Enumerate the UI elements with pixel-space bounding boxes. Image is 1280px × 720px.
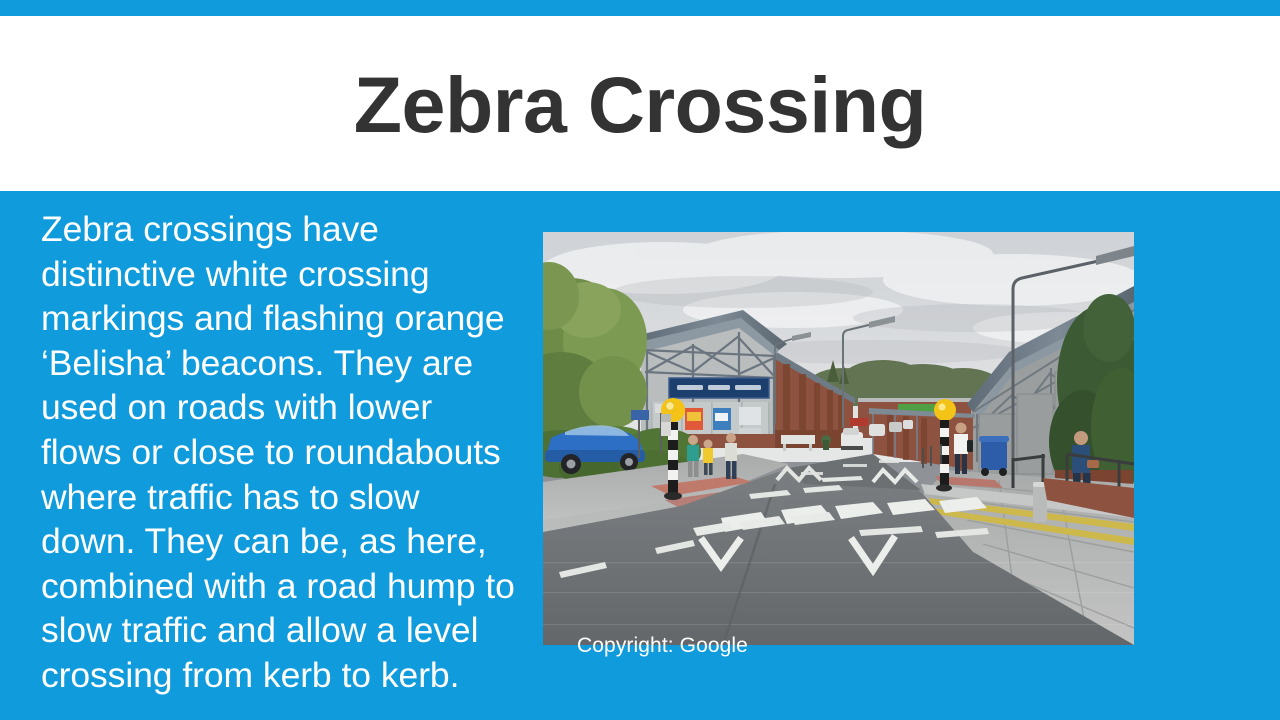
content-band: Zebra crossings have distinctive white c… [0, 191, 1280, 720]
image-caption: Copyright: Google [577, 634, 748, 658]
page-title: Zebra Crossing [354, 64, 926, 147]
street-photo-canvas [543, 232, 1134, 645]
slide: Zebra Crossing Zebra crossings have dist… [0, 0, 1280, 720]
street-photo [543, 232, 1134, 645]
street-scene-illustration [543, 232, 1134, 645]
body-paragraph: Zebra crossings have distinctive white c… [41, 207, 521, 698]
title-band: Zebra Crossing [0, 16, 1280, 191]
top-accent-bar [0, 0, 1280, 16]
